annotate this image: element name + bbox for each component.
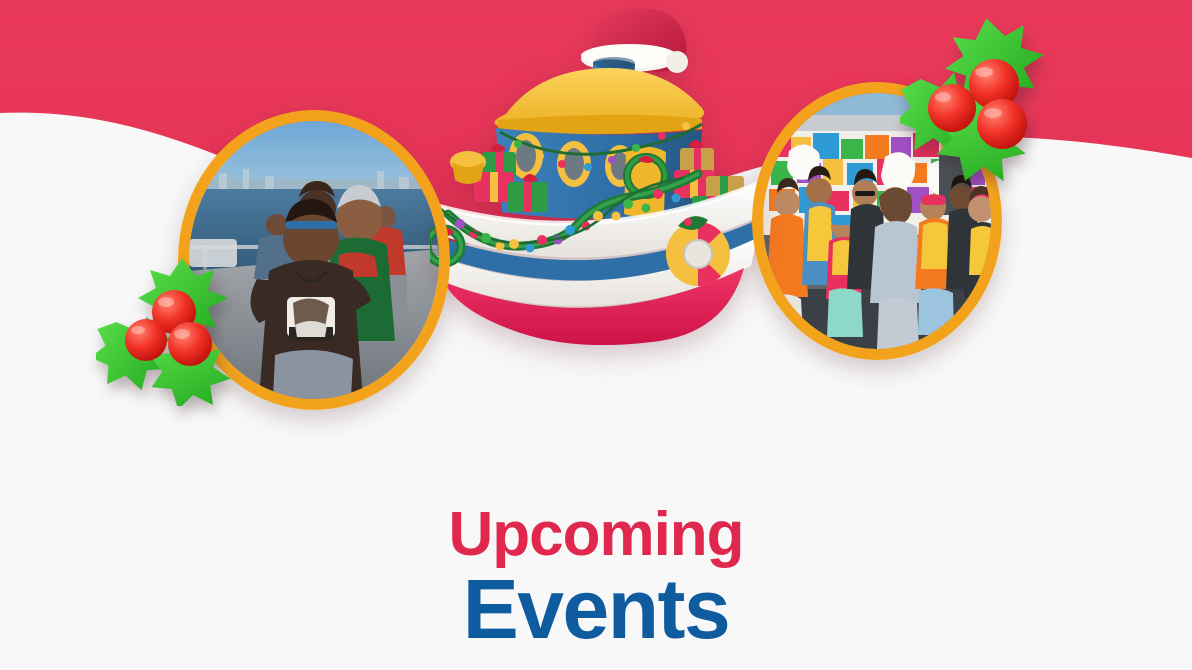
- page-title: Upcoming Events: [0, 505, 1192, 650]
- holly-berry: [928, 84, 976, 132]
- christmas-boat-illustration: [430, 0, 770, 345]
- bow-post: [450, 151, 486, 184]
- cabin-roof: [494, 68, 704, 134]
- life-ring: [666, 222, 730, 286]
- holly-berry: [168, 322, 212, 366]
- holly-decoration-left: [96, 246, 266, 406]
- holly-berry: [125, 319, 167, 361]
- page-title-line-1: Upcoming: [0, 505, 1192, 566]
- hero-artwork: [0, 0, 1192, 430]
- events-hero-banner: Upcoming Events: [0, 0, 1192, 670]
- holly-decoration-right: [900, 8, 1100, 198]
- holly-berry: [977, 99, 1027, 149]
- page-title-line-2: Events: [0, 568, 1192, 650]
